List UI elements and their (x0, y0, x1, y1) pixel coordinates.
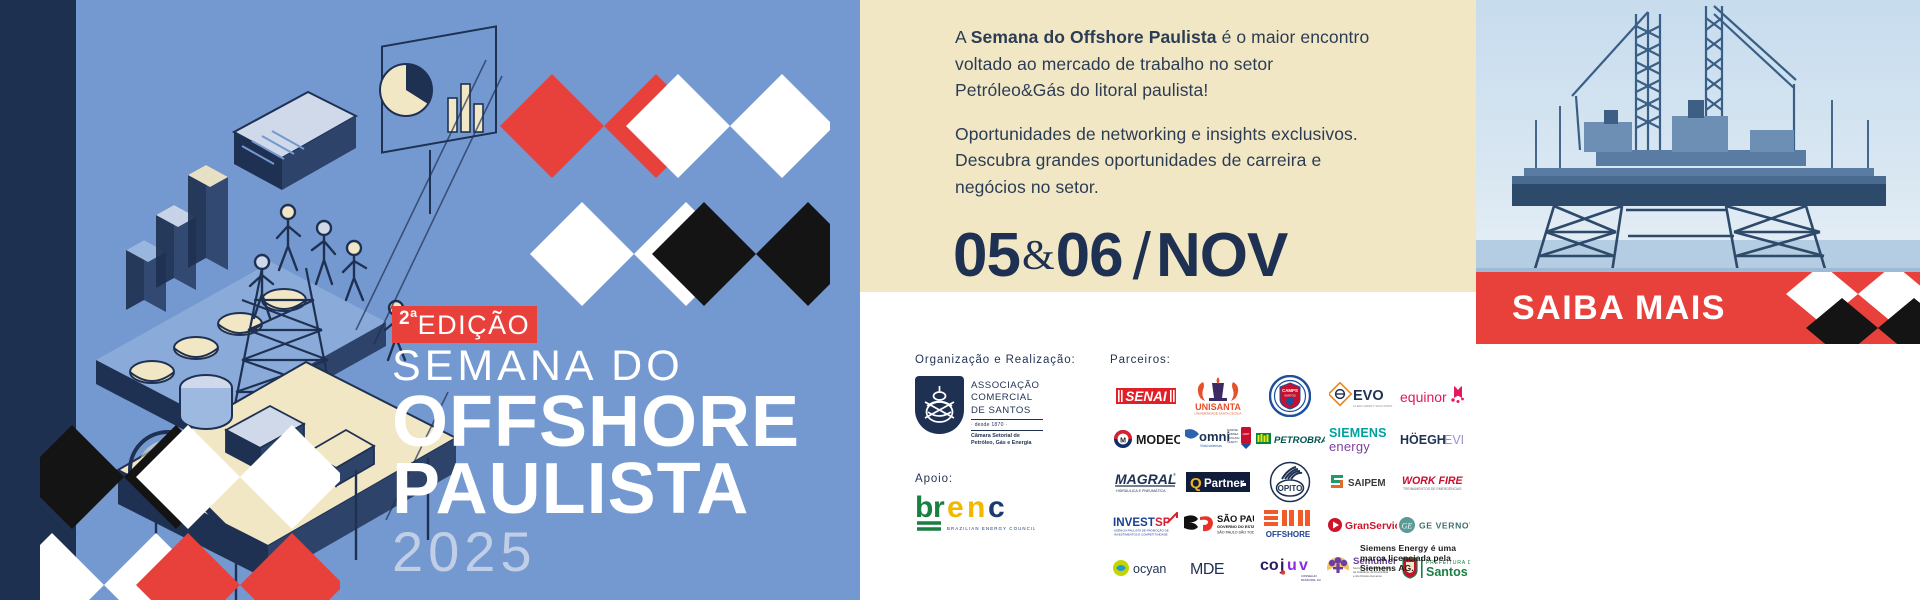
svg-text:n: n (967, 491, 985, 524)
svg-text:ocyan: ocyan (1133, 562, 1166, 576)
description-panel: A Semana do Offshore Paulista é o maior … (860, 0, 1476, 292)
svg-text:SAIPEM: SAIPEM (1348, 478, 1386, 489)
partner-logo-ge-vernova[interactable]: GE GE VERNOVA (1398, 503, 1470, 546)
partner-logo-granservices[interactable]: GranServices (1326, 503, 1398, 546)
partner-logo-petrobras[interactable]: PETROBRAS (1254, 417, 1326, 460)
edition-ordinal: 2ª (399, 308, 418, 329)
event-banner: H (0, 0, 1920, 600)
partner-logo-mde[interactable]: MDE (1182, 546, 1254, 589)
organizer-column: Organização e Realização: (915, 354, 1105, 542)
acs-line-2: COMERCIAL (971, 392, 1043, 404)
svg-text:INVESTIMENTOS E COMPETITIVIDAD: INVESTIMENTOS E COMPETITIVIDADE (1114, 532, 1168, 536)
svg-text:MUNICIPAL JUVENIL: MUNICIPAL JUVENIL (1301, 578, 1321, 582)
partner-logo-saipem[interactable]: SAIPEM (1326, 460, 1398, 503)
svg-text:TREINAMENTOS DE EMERGÊNCIAS: TREINAMENTOS DE EMERGÊNCIAS (1403, 486, 1462, 491)
description-paragraph-2: Oportunidades de networking e insights e… (955, 121, 1375, 201)
edition-row: 2ªEDIÇÃO (392, 306, 860, 343)
organizer-label: Organização e Realização: (915, 354, 1105, 366)
svg-text:Vidal sistemas: Vidal sistemas (1200, 444, 1222, 448)
para1-pre: A (955, 27, 971, 47)
svg-text:HIDRÁULICA E PNEUMÁTICA: HIDRÁULICA E PNEUMÁTICA (1116, 489, 1166, 493)
partner-logo-workfire[interactable]: WORK FIRE TREINAMENTOS DE EMERGÊNCIAS (1398, 460, 1470, 503)
support-logo-brenc[interactable]: b r e n c BRAZILIAN ENERGY COUNCIL (915, 491, 1105, 542)
partner-logo-siemens-energy[interactable]: SIEMENS energy (1326, 417, 1398, 460)
event-title-block: 2ªEDIÇÃO SEMANA DO OFFSHORE PAULISTA 202… (392, 306, 860, 582)
svg-text:UNISANTA: UNISANTA (1195, 402, 1241, 412)
chevron-motif-top (500, 48, 830, 338)
svg-text:u: u (1287, 557, 1297, 574)
svg-text:WORK FIRE: WORK FIRE (1402, 475, 1464, 487)
partner-logo-equinor[interactable]: equinor (1398, 374, 1470, 417)
support-label: Apoio: (915, 473, 1105, 485)
svg-text:GE VERNOVA: GE VERNOVA (1419, 520, 1470, 530)
partner-logo-opito[interactable]: OPITO (1254, 460, 1326, 503)
svg-text:SENAI: SENAI (1125, 389, 1167, 404)
organizer-logo-acs[interactable]: ASSOCIAÇÃO COMERCIAL DE SANTOS · desde 1… (915, 376, 1105, 447)
chevron-motif-bottom (40, 425, 340, 600)
cta-chevron-decoration (1780, 272, 1920, 344)
svg-text:e dos Direitos Humanos: e dos Direitos Humanos (1353, 574, 1382, 578)
svg-text:GOVERNO DO ESTADO: GOVERNO DO ESTADO (1217, 524, 1254, 529)
svg-text:EVO: EVO (1353, 388, 1384, 404)
svg-text:co: co (1260, 557, 1279, 574)
date-day-1: 05 (953, 220, 1020, 291)
svg-text:SÃO PAULO: SÃO PAULO (1217, 513, 1254, 524)
svg-text:®: ® (1173, 472, 1176, 477)
acs-line-3: DE SANTOS (971, 405, 1043, 417)
svg-text:INVEST: INVEST (1113, 516, 1155, 529)
svg-text:MODEC: MODEC (1136, 433, 1180, 447)
siemens-trademark-footnote: Siemens Energy é uma marca licenciada pe… (1360, 543, 1470, 573)
svg-text:e: e (947, 491, 964, 524)
acs-subtitle-1: Câmara Setorial de (971, 433, 1043, 440)
event-name-bold: Semana do Offshore Paulista (971, 27, 1217, 47)
acs-since: · desde 1870 · (971, 422, 1043, 428)
svg-text:MDE: MDE (1190, 561, 1224, 578)
partner-logo-camps[interactable]: CAMPS SANTOS (1254, 374, 1326, 417)
svg-text:M: M (1120, 437, 1126, 444)
partner-logo-senai[interactable]: SENAI (1110, 374, 1182, 417)
date-slash: / (1123, 218, 1156, 294)
date-month: NOV (1156, 220, 1287, 291)
edition-badge: 2ªEDIÇÃO (392, 306, 537, 343)
partner-logo-modec[interactable]: M MODEC (1110, 417, 1182, 460)
svg-text:UNIVERSIDADE SANTA CECÍLIA: UNIVERSIDADE SANTA CECÍLIA (1195, 411, 1243, 415)
partners-label: Parceiros: (1110, 354, 1470, 366)
partner-logo-hoegh-evi[interactable]: HÖEGH EVI (1398, 417, 1470, 460)
partner-logo-unisanta[interactable]: UNISANTA UNIVERSIDADE SANTA CECÍLIA (1182, 374, 1254, 417)
svg-text:r: r (933, 491, 945, 524)
svg-text:energy: energy (1329, 439, 1370, 454)
svg-text:EVI: EVI (1444, 433, 1464, 447)
svg-text:CLEAN SAFETY SOLUTIONS: CLEAN SAFETY SOLUTIONS (1353, 404, 1392, 408)
svg-text:b: b (915, 491, 933, 524)
svg-text:SANTOS: SANTOS (1284, 393, 1296, 397)
saiba-mais-button[interactable]: SAIBA MAIS (1476, 272, 1920, 344)
svg-text:GranServices: GranServices (1345, 521, 1397, 532)
svg-text:OPITO: OPITO (1278, 484, 1303, 493)
title-year: 2025 (392, 523, 860, 582)
date-day-2: 06 (1056, 220, 1123, 291)
acs-divider-2 (971, 430, 1043, 431)
partners-section: Organização e Realização: (860, 292, 1476, 600)
svg-text:c: c (988, 491, 1005, 524)
acs-divider (971, 419, 1043, 420)
event-date: 05 & 06 / NOV (953, 218, 1426, 294)
acs-subtitle-2: Petróleo, Gás e Energia (971, 440, 1043, 447)
acs-wordmark: ASSOCIAÇÃO COMERCIAL DE SANTOS · desde 1… (971, 376, 1043, 447)
description-paragraph-1: A Semana do Offshore Paulista é o maior … (955, 24, 1375, 104)
svg-text:v: v (1299, 557, 1308, 574)
edition-word: EDIÇÃO (418, 310, 531, 340)
saiba-mais-label: SAIBA MAIS (1512, 289, 1726, 328)
partner-logo-investsp[interactable]: INVEST SP AGÊNCIA PAULISTA DE PROMOÇÃO D… (1110, 503, 1182, 546)
svg-text:PETROBRAS: PETROBRAS (1274, 435, 1325, 446)
svg-text:CERT: CERT (1242, 432, 1249, 436)
date-ampersand: & (1020, 232, 1056, 280)
svg-text:omni: omni (1199, 429, 1230, 444)
svg-text:CAMPS: CAMPS (1282, 388, 1298, 393)
brenc-tagline: BRAZILIAN ENERGY COUNCIL (947, 526, 1035, 531)
partner-logo-qpartner[interactable]: Q Partner (1182, 460, 1254, 503)
partner-logo-magral[interactable]: MAGRAL ® HIDRÁULICA E PNEUMÁTICA (1110, 460, 1182, 503)
partner-logo-evo[interactable]: EVO CLEAN SAFETY SOLUTIONS (1326, 374, 1398, 417)
svg-text:Partner: Partner (1204, 478, 1245, 490)
partner-logo-sbm-offshore[interactable]: OFFSHORE (1254, 503, 1326, 546)
svg-text:MAGRAL: MAGRAL (1115, 471, 1176, 487)
svg-text:SAFETY: SAFETY (1227, 440, 1238, 444)
partner-logos-column: Parceiros: SENAI (1110, 354, 1470, 589)
svg-text:HÖEGH: HÖEGH (1400, 432, 1446, 447)
svg-text:GE: GE (1402, 521, 1413, 530)
partner-logo-ocyan[interactable]: ocyan (1110, 546, 1182, 589)
svg-text:OFFSHORE: OFFSHORE (1266, 530, 1311, 539)
acs-shield-icon (915, 376, 964, 434)
partner-logo-cojuv[interactable]: co j u v CONSELHO MUNICIPAL JUVENIL (1254, 546, 1326, 589)
acs-line-1: ASSOCIAÇÃO (971, 380, 1043, 392)
svg-text:SIEMENS: SIEMENS (1329, 426, 1387, 440)
svg-text:Q: Q (1190, 475, 1202, 492)
svg-text:equinor: equinor (1400, 389, 1447, 405)
partner-logo-sao-paulo[interactable]: SÃO PAULO GOVERNO DO ESTADO SÃO PAULO SÃ… (1182, 503, 1254, 546)
partner-logo-omni[interactable]: omni Vidal sistemas MARINESUBSEA TOOLING… (1182, 417, 1254, 460)
left-hero-panel: H (0, 0, 860, 600)
svg-text:SÃO PAULO SÃO TODOS: SÃO PAULO SÃO TODOS (1217, 529, 1254, 534)
title-line-offshore: OFFSHORE (392, 389, 860, 456)
title-line-paulista: PAULISTA (392, 456, 860, 523)
